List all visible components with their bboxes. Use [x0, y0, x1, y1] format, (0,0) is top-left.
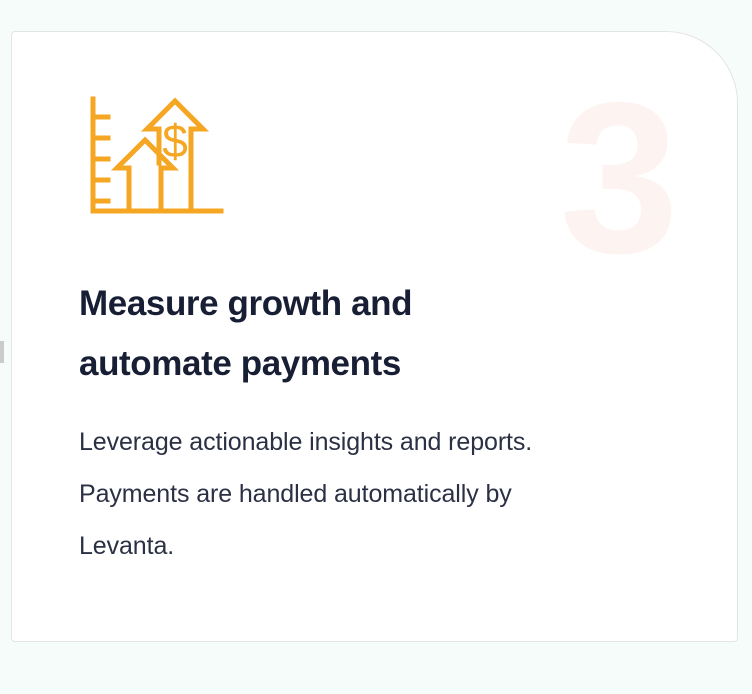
chevron-left-icon — [0, 341, 10, 367]
carousel-prev-button[interactable] — [0, 341, 10, 367]
dollar-sign-icon: $ — [162, 115, 188, 167]
card-content: $ Measure growth and automate payments L… — [12, 32, 737, 572]
feature-card: 3 $ Measure growth and automate payments — [11, 31, 738, 642]
card-description: Leverage actionable insights and reports… — [79, 416, 589, 572]
card-heading: Measure growth and automate payments — [79, 274, 549, 394]
growth-chart-dollar-icon: $ — [79, 95, 225, 225]
